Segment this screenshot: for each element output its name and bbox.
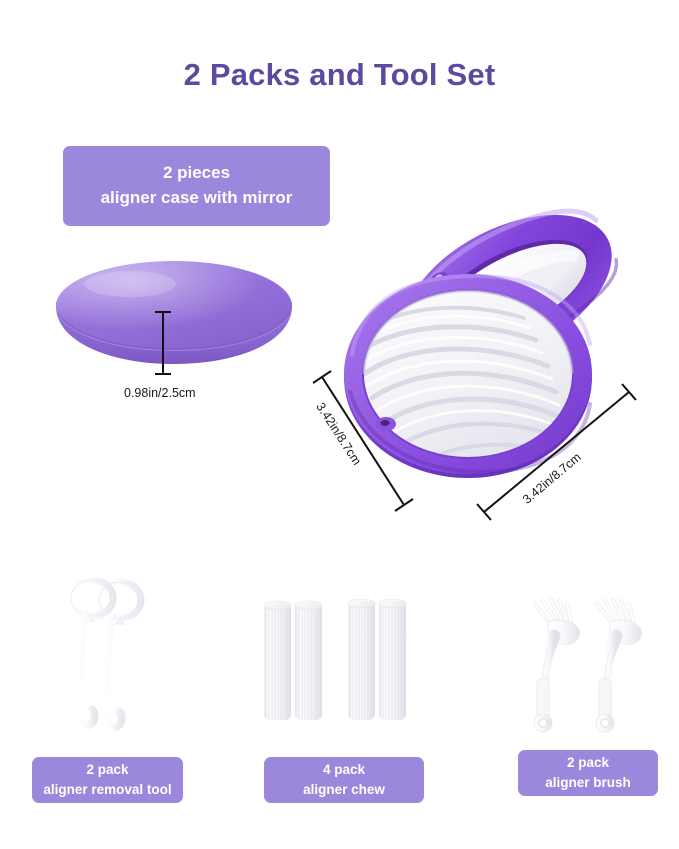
closed-aligner-case-illustration [52, 258, 296, 366]
aligner-removal-tool-illustration [62, 578, 172, 738]
caption-line-1: 4 pack [323, 760, 365, 780]
open-aligner-case-illustration [336, 178, 646, 488]
caption-line-2: aligner chew [303, 780, 385, 800]
infographic-canvas: 2 Packs and Tool Set [0, 0, 679, 849]
caption-line-1: 2 pack [567, 753, 609, 773]
caption-line-2: aligner brush [545, 773, 631, 793]
dimension-height-label: 0.98in/2.5cm [124, 386, 196, 400]
caption-line-2: aligner case with mirror [101, 186, 293, 211]
caption-line-1: 2 pieces [163, 161, 230, 186]
page-title: 2 Packs and Tool Set [0, 57, 679, 93]
aligner-brush-illustration [522, 592, 658, 737]
caption-aligner-chew: 4 pack aligner chew [264, 757, 424, 803]
caption-line-1: 2 pack [86, 760, 128, 780]
caption-aligner-brush: 2 pack aligner brush [518, 750, 658, 796]
aligner-chew-illustration [262, 592, 424, 734]
caption-aligner-case: 2 pieces aligner case with mirror [63, 146, 330, 226]
caption-aligner-removal-tool: 2 pack aligner removal tool [32, 757, 183, 803]
caption-line-2: aligner removal tool [43, 780, 171, 800]
